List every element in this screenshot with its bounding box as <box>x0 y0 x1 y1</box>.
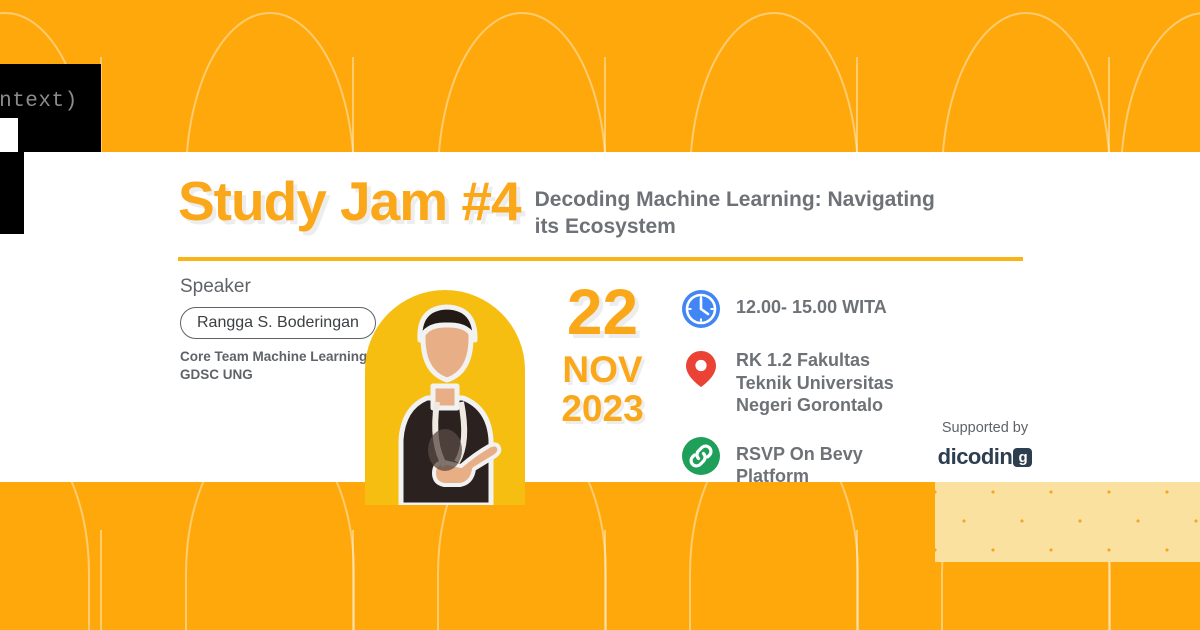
detail-row-location: RK 1.2 Fakultas Teknik Universitas Neger… <box>680 348 930 417</box>
event-date: 22 NOV 2023 <box>540 282 665 428</box>
header-divider <box>178 257 1023 261</box>
supported-by-block: Supported by dicodin g <box>925 420 1045 470</box>
dicoding-wordmark: dicodin <box>938 444 1013 470</box>
detail-rsvp-text[interactable]: RSVP On Bevy Platform <box>736 435 930 488</box>
arch-pattern-top <box>0 0 1200 152</box>
date-month: NOV <box>540 351 665 390</box>
clock-icon <box>680 288 722 330</box>
speaker-name: Rangga S. Boderingan <box>180 307 376 339</box>
speaker-portrait-illustration <box>365 290 525 505</box>
link-icon[interactable] <box>680 435 722 477</box>
location-pin-icon <box>680 348 722 390</box>
speaker-label: Speaker <box>180 276 390 298</box>
banner-header: Study Jam #4 Decoding Machine Learning: … <box>178 174 1024 241</box>
code-chip-strip <box>0 152 24 234</box>
code-chip-notch <box>0 118 18 152</box>
date-year: 2023 <box>540 390 665 429</box>
dotted-panel <box>935 482 1200 562</box>
detail-time-text: 12.00- 15.00 WITA <box>736 288 887 319</box>
code-snippet-text: ontext) <box>0 90 78 113</box>
speaker-block: Speaker Rangga S. Boderingan Core Team M… <box>180 276 390 384</box>
detail-location-text: RK 1.2 Fakultas Teknik Universitas Neger… <box>736 348 930 417</box>
event-details: 12.00- 15.00 WITA RK 1.2 Fakultas Teknik… <box>680 288 930 506</box>
speaker-photo <box>365 290 525 505</box>
dicoding-logo-mark: g <box>1013 448 1032 467</box>
supported-by-label: Supported by <box>925 420 1045 436</box>
speaker-role: Core Team Machine Learning GDSC UNG <box>180 348 390 384</box>
date-day: 22 <box>540 282 665 343</box>
dicoding-logo: dicodin g <box>925 444 1045 470</box>
page-subtitle: Decoding Machine Learning: Navigating it… <box>535 174 965 241</box>
detail-row-time: 12.00- 15.00 WITA <box>680 288 930 330</box>
detail-row-rsvp[interactable]: RSVP On Bevy Platform <box>680 435 930 488</box>
page-title: Study Jam #4 <box>178 174 521 229</box>
